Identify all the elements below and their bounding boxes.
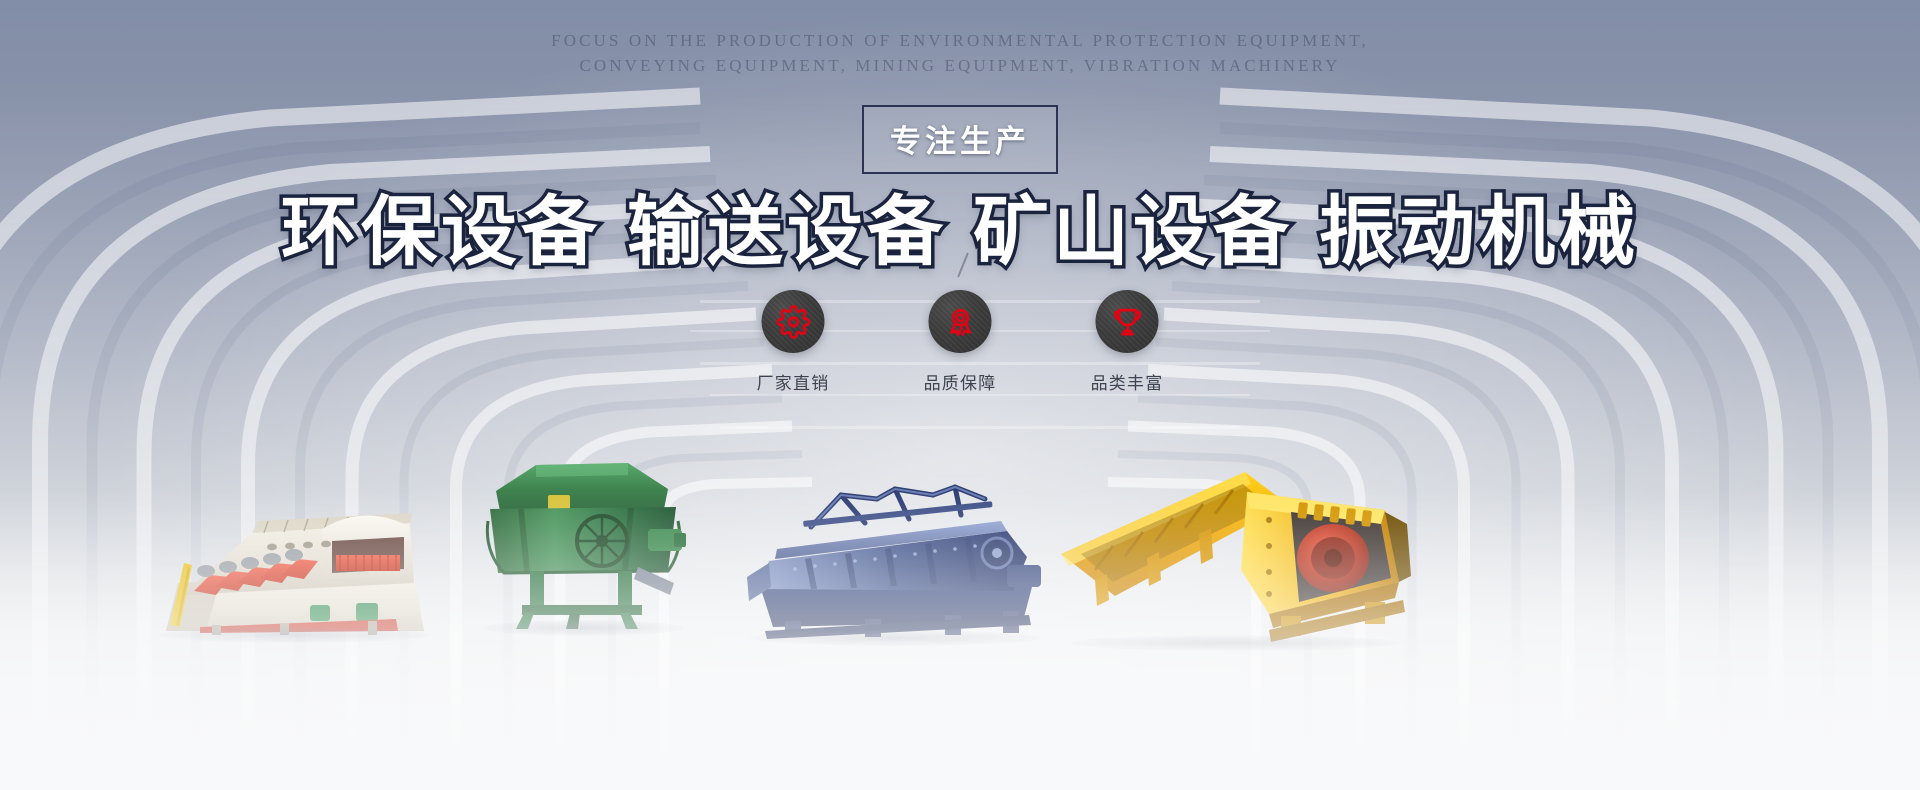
headline-part-2: 输送设备: [627, 187, 947, 276]
trophy-icon: [1096, 290, 1159, 353]
feature-item-quality: 品质保障: [903, 290, 1018, 394]
feature-label: 品类丰富: [1070, 369, 1185, 394]
gear-icon: [762, 290, 825, 353]
headline-part-3: 矿山设备: [973, 187, 1293, 276]
product-green-mixer-machine: [478, 455, 688, 630]
product-vibrating-screen-machine: [160, 455, 430, 635]
headline-part-4: 振动机械: [1319, 187, 1639, 276]
hero-banner: FOCUS ON THE PRODUCTION OF ENVIRONMENTAL…: [0, 0, 1920, 790]
headline-part-1: 环保设备: [281, 187, 601, 276]
feature-label: 厂家直销: [736, 369, 851, 394]
product-blue-mining-screen: [745, 465, 1045, 640]
product-yellow-crusher-machine: [1055, 450, 1415, 645]
medal-icon: [929, 290, 992, 353]
english-tagline: FOCUS ON THE PRODUCTION OF ENVIRONMENTAL…: [0, 28, 1920, 78]
feature-item-direct-sales: 厂家直销: [736, 290, 851, 394]
page-title: 环保设备输送设备矿山设备振动机械: [0, 170, 1920, 280]
feature-item-variety: 品类丰富: [1070, 290, 1185, 394]
feature-list: 厂家直销 品质保障: [736, 290, 1185, 394]
product-showcase: [0, 460, 1920, 790]
feature-label: 品质保障: [903, 369, 1018, 394]
focus-tag-label: 专注生产: [890, 124, 1030, 160]
focus-tag-box: 专注生产: [862, 105, 1058, 174]
